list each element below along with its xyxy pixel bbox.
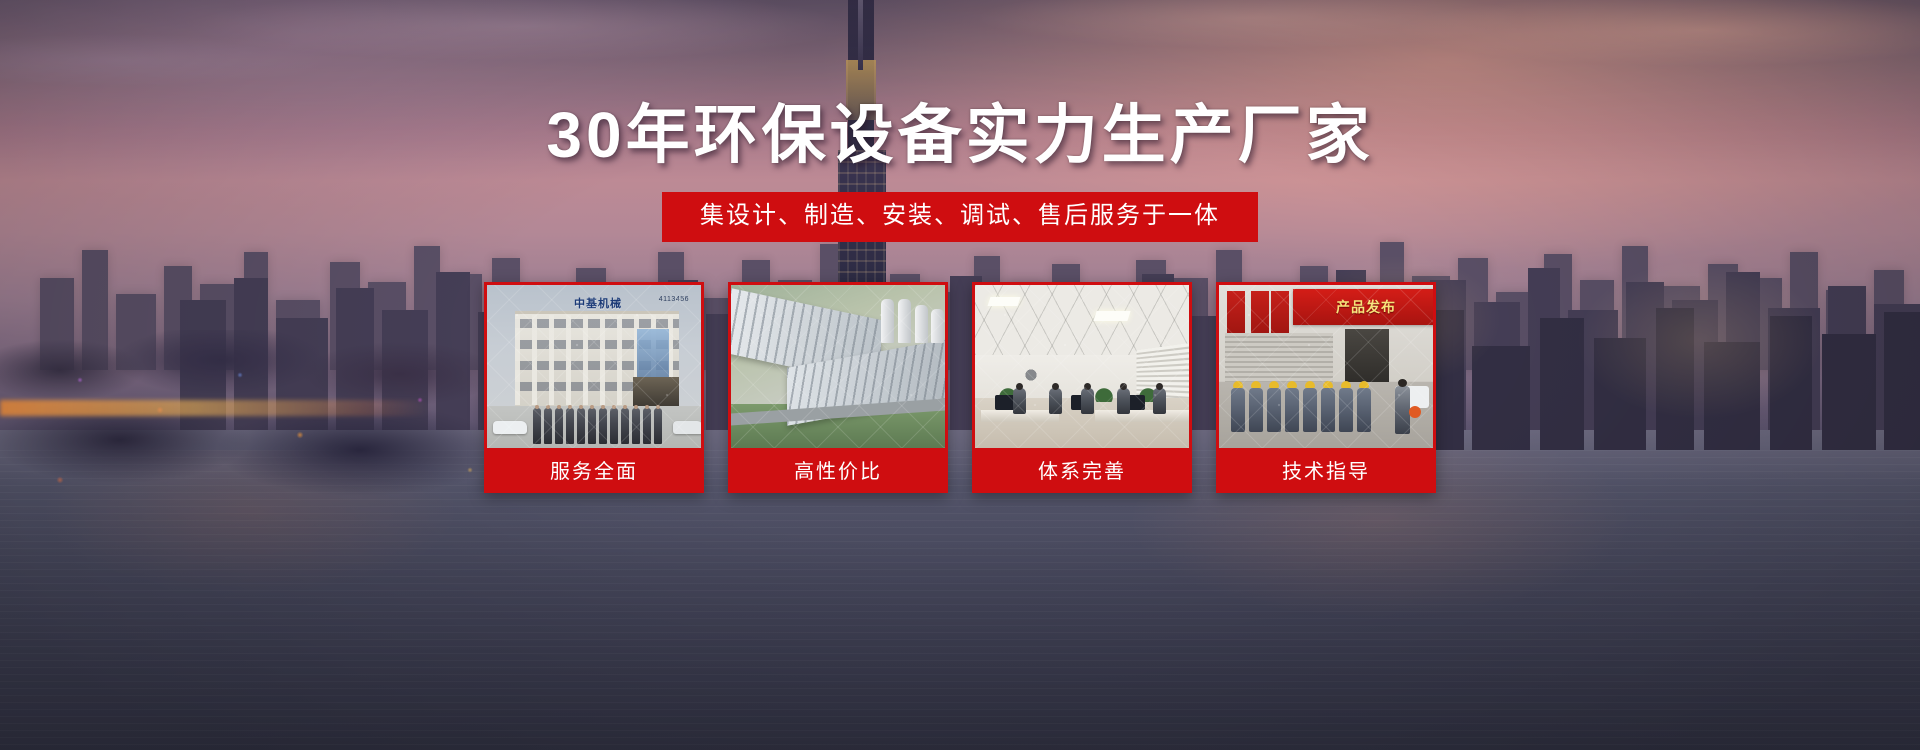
card-photo-office-interior	[975, 285, 1189, 448]
storage-silo	[915, 305, 928, 343]
card-photo-workshop-workers: 产品发布	[1219, 285, 1433, 448]
supervisor-figure	[1395, 386, 1410, 434]
office-ceiling-grid	[975, 285, 1189, 355]
worker-with-helmet	[1303, 388, 1317, 432]
card-caption-value: 高性价比	[731, 448, 945, 490]
office-employee	[1049, 388, 1062, 414]
storage-silo	[931, 309, 944, 343]
card-photo-headquarters: 中基机械 4113456	[487, 285, 701, 448]
banner-headline: 30年环保设备实力生产厂家	[0, 100, 1920, 170]
worker-with-helmet	[1321, 388, 1335, 432]
worker-with-helmet	[1267, 388, 1281, 432]
banner-content: 30年环保设备实力生产厂家 集设计、制造、安装、调试、售后服务于一体 中基机械 …	[0, 0, 1920, 750]
office-employee	[1117, 388, 1130, 414]
computer-monitor	[995, 395, 1015, 410]
feature-card-service[interactable]: 中基机械 4113456 服务全面	[484, 282, 704, 493]
hero-banner: 30年环保设备实力生产厂家 集设计、制造、安装、调试、售后服务于一体 中基机械 …	[0, 0, 1920, 750]
parked-car-second	[673, 421, 701, 434]
storage-silo	[881, 299, 894, 343]
building-entrance	[633, 377, 679, 407]
card-caption-guidance: 技术指导	[1219, 448, 1433, 490]
ceiling-light-panel	[1093, 311, 1130, 321]
banner-subtitle-bar: 集设计、制造、安装、调试、售后服务于一体	[662, 192, 1258, 242]
worker-with-helmet	[1249, 388, 1263, 432]
parked-car	[493, 421, 527, 434]
feature-card-list: 中基机械 4113456 服务全面	[0, 282, 1920, 493]
workshop-doorway	[1345, 329, 1389, 385]
held-helmet	[1409, 406, 1421, 418]
office-plant	[1093, 386, 1115, 402]
feature-card-system[interactable]: 体系完善	[972, 282, 1192, 493]
feature-card-value[interactable]: 高性价比	[728, 282, 948, 493]
banner-subtitle-wrapper: 集设计、制造、安装、调试、售后服务于一体	[0, 192, 1920, 242]
workshop-red-banner: 产品发布	[1293, 289, 1433, 325]
staff-lineup	[533, 408, 677, 444]
office-desk	[1095, 410, 1189, 422]
building-glass-facade	[637, 329, 669, 379]
office-employee	[1013, 388, 1026, 414]
worker-with-helmet	[1357, 388, 1371, 432]
storage-silo	[898, 299, 911, 343]
card-caption-service: 服务全面	[487, 448, 701, 490]
feature-card-guidance[interactable]: 产品发布 技术	[1216, 282, 1436, 493]
roller-shutter	[1225, 333, 1333, 385]
worker-with-helmet	[1231, 388, 1245, 432]
workshop-banner-text: 产品发布	[1336, 297, 1396, 317]
office-employee	[1081, 388, 1094, 414]
worker-with-helmet	[1339, 388, 1353, 432]
company-sign-text: 中基机械	[542, 295, 654, 310]
office-employee	[1153, 388, 1166, 414]
card-photo-factory-aerial	[731, 285, 945, 448]
ceiling-light-panel	[988, 297, 1021, 306]
worker-with-helmet	[1285, 388, 1299, 432]
card-caption-system: 体系完善	[975, 448, 1189, 490]
company-phone-text: 4113456	[659, 296, 689, 303]
